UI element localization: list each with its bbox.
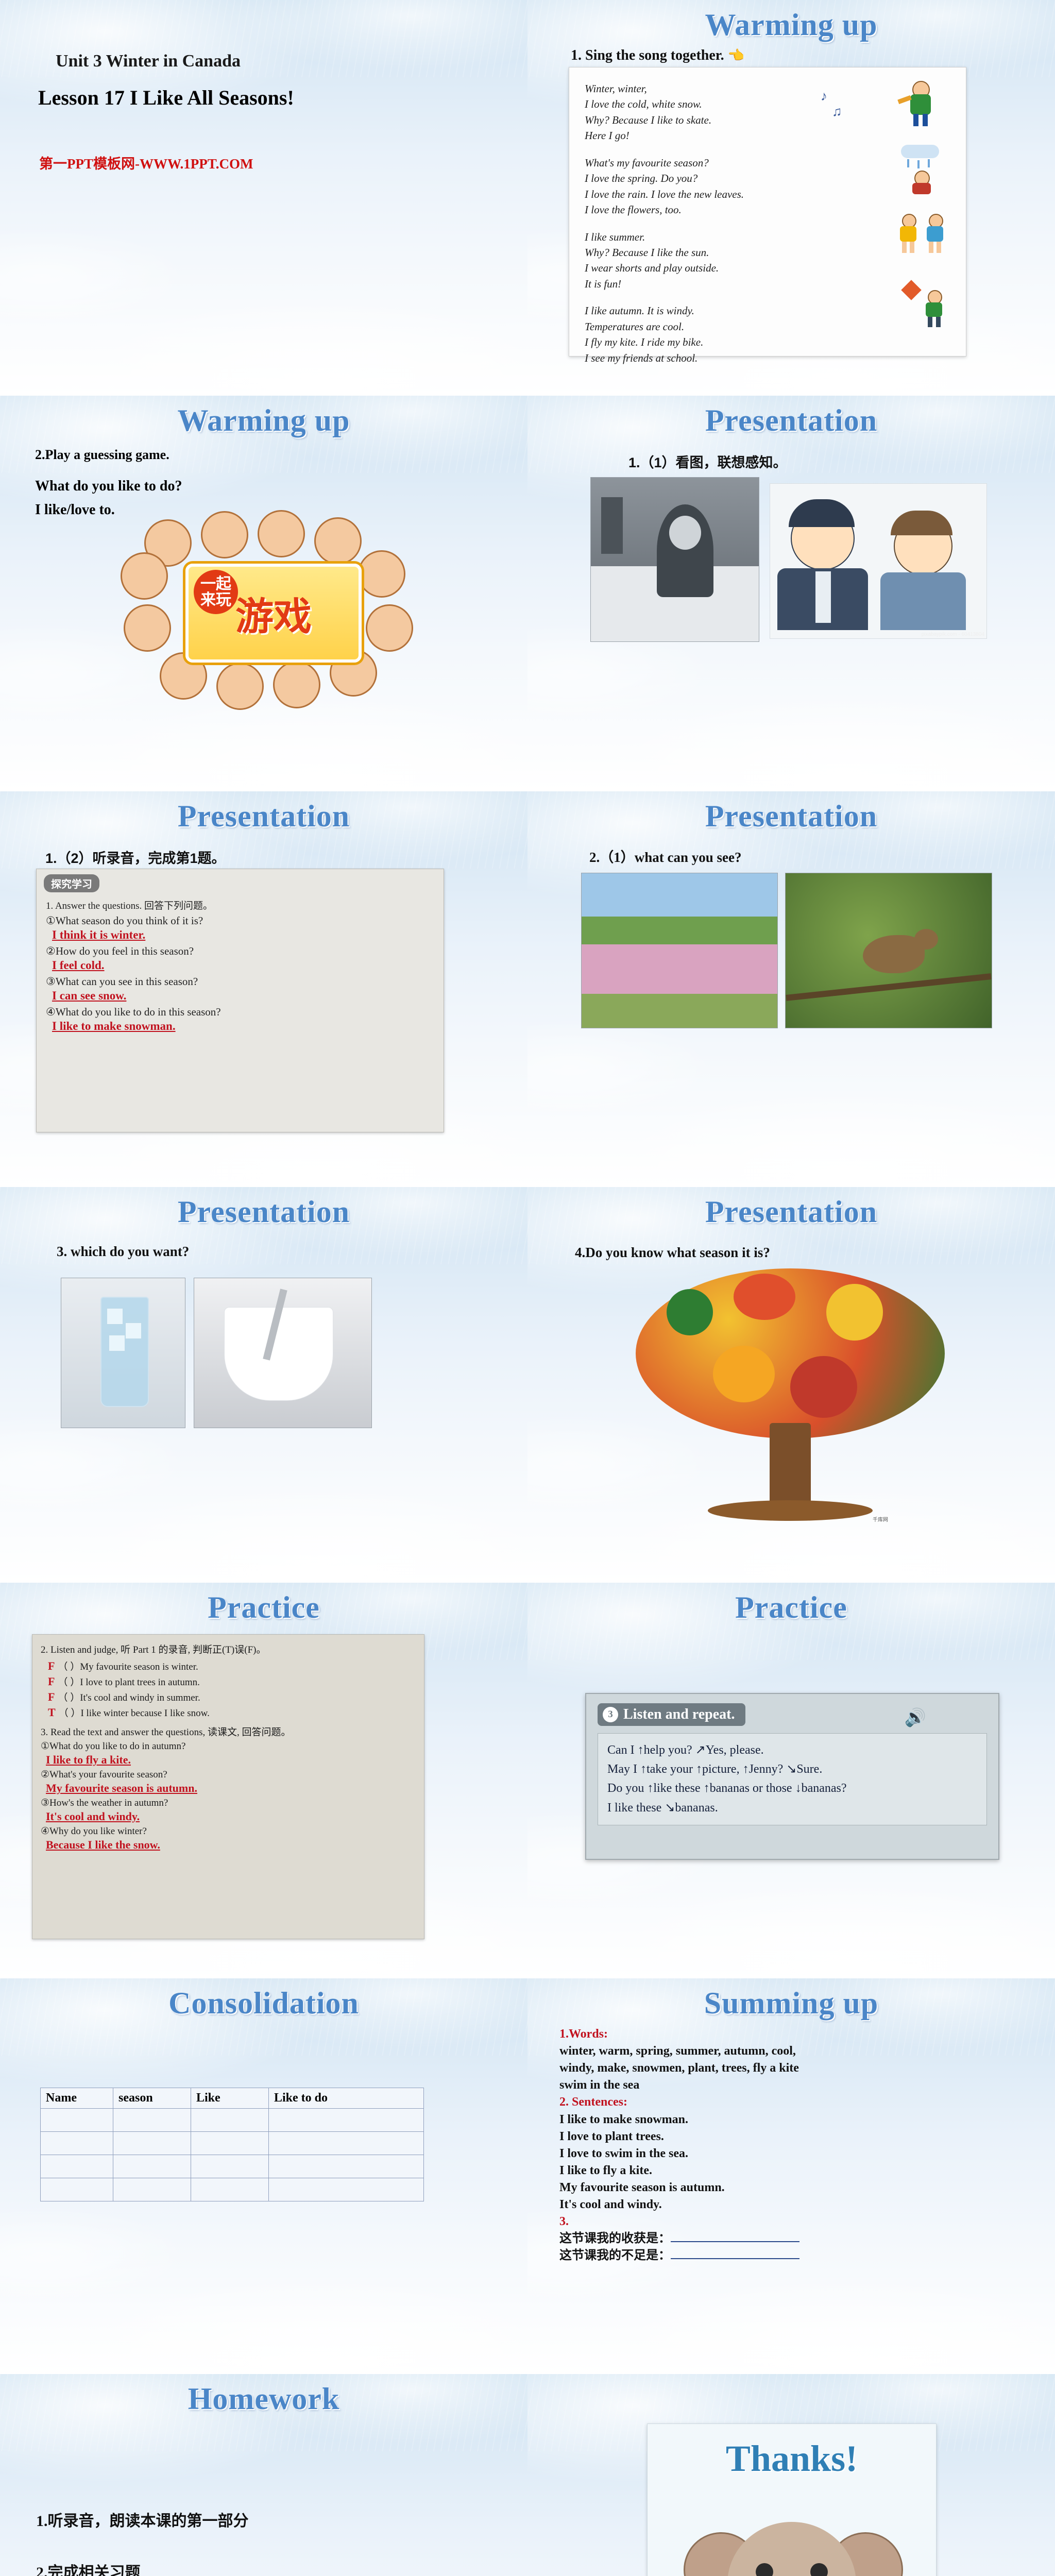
slide-presentation-2: Presentation 1.（2）听录音，完成第1题。 探究学习 1. Ans… bbox=[0, 791, 527, 1187]
slide-heading: Warming up bbox=[527, 0, 1055, 43]
sentence-item: My favourite season is autumn. bbox=[559, 2179, 1023, 2196]
unit-title: Unit 3 Winter in Canada bbox=[56, 52, 241, 71]
slide-heading: Presentation bbox=[527, 791, 1055, 834]
koala-photo bbox=[678, 2501, 905, 2576]
judge-item: T （ ）I like winter because I like snow. bbox=[48, 1705, 424, 1719]
judge-text: （ ）I love to plant trees in autumn. bbox=[58, 1674, 199, 1688]
words-heading: 1.Words: bbox=[559, 2026, 1023, 2043]
song-stanza: I like summer. Why? Because I like the s… bbox=[585, 229, 811, 292]
table-header-row: Name season Like Like to do bbox=[41, 2088, 424, 2109]
slide-presentation-5: Presentation 4.Do you know what season i… bbox=[527, 1187, 1055, 1583]
dialogue-line: Do you ↑like these ↑bananas or those ↓ba… bbox=[607, 1779, 977, 1798]
column-header-name: Name bbox=[41, 2088, 113, 2109]
reflection-line-2: 这节课我的不足是： bbox=[559, 2247, 1023, 2264]
thanks-text: Thanks! bbox=[648, 2437, 936, 2480]
hot-water-photo bbox=[194, 1278, 372, 1428]
cell[interactable] bbox=[41, 2109, 113, 2132]
cell[interactable] bbox=[41, 2155, 113, 2178]
worksheet-intro: 1. Answer the questions. 回答下列问题。 bbox=[46, 898, 444, 912]
task-text: 3. which do you want? bbox=[57, 1244, 189, 1260]
ice-water-photo bbox=[61, 1278, 185, 1428]
dialogue-line: I like these ↘bananas. bbox=[607, 1799, 977, 1818]
question-1: ①What season do you think of it is? bbox=[46, 914, 444, 927]
judge-item: F （ ）My favourite season is winter. bbox=[48, 1659, 424, 1673]
cell[interactable] bbox=[113, 2109, 191, 2132]
song-illustrations: ♪ ♫ bbox=[816, 67, 966, 356]
slide-heading: Presentation bbox=[527, 1187, 1055, 1230]
worksheet-card: 探究学习 1. Answer the questions. 回答下列问题。 ①W… bbox=[36, 869, 444, 1132]
practice-question-2: ②What's your favourite season? bbox=[41, 1769, 424, 1781]
task-label: 1. Sing the song together. 👈 bbox=[571, 47, 744, 64]
question-4: ④What do you like to do in this season? bbox=[46, 1006, 444, 1019]
autumn-kite-illustration bbox=[900, 279, 957, 328]
guessing-game-illustration: 游戏 一起来玩 bbox=[124, 514, 412, 705]
cell[interactable] bbox=[41, 2132, 113, 2155]
slide-homework: Homework 1.听录音，朗读本课的第一部分 2.完成相关习题 3.写一写你… bbox=[0, 2374, 527, 2576]
speaker-icon[interactable]: 🔊 bbox=[905, 1707, 926, 1728]
reflection-line-1: 这节课我的收获是： bbox=[559, 2230, 1023, 2247]
slide-heading: Summing up bbox=[527, 1978, 1055, 2021]
slide-warming-up-game: Warming up 2.Play a guessing game. What … bbox=[0, 396, 527, 791]
judge-mark: F bbox=[48, 1659, 55, 1673]
cell[interactable] bbox=[113, 2132, 191, 2155]
task-text: 1.（2）听录音，完成第1题。 bbox=[45, 847, 226, 867]
summary-body: 1.Words: winter, warm, spring, summer, a… bbox=[559, 2026, 1023, 2265]
music-note-icon: ♫ bbox=[832, 104, 842, 120]
slide-deck: Unit 3 Winter in Canada Lesson 17 I Like… bbox=[0, 0, 1055, 2576]
slide-heading: Presentation bbox=[527, 396, 1055, 438]
judge-mark: T bbox=[48, 1706, 56, 1719]
winter-person-photo bbox=[590, 477, 759, 642]
homework-item-2: 2.完成相关习题 bbox=[36, 2560, 141, 2576]
spring-rain-illustration bbox=[898, 145, 955, 194]
answer-2: I feel cold. bbox=[52, 959, 444, 972]
judge-item: F （ ）It's cool and windy in summer. bbox=[48, 1690, 424, 1704]
listen-repeat-card: 3 Listen and repeat. 🔊 Can I ↑help you? … bbox=[585, 1693, 999, 1860]
task-text: 2.Play a guessing game. bbox=[35, 447, 169, 463]
slide-thanks: Thanks! bbox=[527, 2374, 1055, 2576]
cell[interactable] bbox=[191, 2155, 269, 2178]
practice-answer-4: Because I like the snow. bbox=[46, 1838, 424, 1852]
cell[interactable] bbox=[113, 2155, 191, 2178]
slide-title: Unit 3 Winter in Canada Lesson 17 I Like… bbox=[0, 0, 527, 396]
worksheet-title: 探究学习 bbox=[44, 874, 99, 892]
summer-kids-illustration bbox=[896, 211, 952, 260]
slide-practice-2: Practice 3 Listen and repeat. 🔊 Can I ↑h… bbox=[527, 1583, 1055, 1978]
slide-consolidation: Consolidation Name season Like Like to d… bbox=[0, 1978, 527, 2374]
homework-item-1: 1.听录音，朗读本课的第一部分 bbox=[36, 2508, 249, 2531]
slide-presentation-4: Presentation 3. which do you want? bbox=[0, 1187, 527, 1583]
words-list: winter, warm, spring, summer, autumn, co… bbox=[559, 2043, 1023, 2094]
slide-heading: Presentation bbox=[0, 1187, 527, 1230]
reflection-label-2: 这节课我的不足是： bbox=[559, 2249, 671, 2262]
practice-worksheet: 2. Listen and judge, 听 Part 1 的录音, 判断正(T… bbox=[32, 1634, 424, 1939]
song-card: Winter, winter, I love the cold, white s… bbox=[569, 67, 966, 357]
judge-text: （ ）It's cool and windy in summer. bbox=[58, 1690, 200, 1704]
consolidation-table: Name season Like Like to do bbox=[40, 2088, 424, 2201]
spring-field-photo bbox=[581, 873, 778, 1028]
thanks-card: Thanks! bbox=[647, 2424, 937, 2576]
song-lyrics: Winter, winter, I love the cold, white s… bbox=[569, 67, 816, 356]
slide-heading: Warming up bbox=[0, 396, 527, 438]
prompt-question: What do you like to do? bbox=[35, 478, 182, 495]
sentence-item: I like to fly a kite. bbox=[559, 2162, 1023, 2179]
cartoon-cold-people: pixabaypik.com - 60413804 bbox=[770, 483, 987, 639]
sentence-item: I love to swim in the sea. bbox=[559, 2145, 1023, 2162]
dialogue-box: Can I ↑help you? ↗Yes, please. May I ↑ta… bbox=[598, 1733, 987, 1825]
sentence-item: I love to plant trees. bbox=[559, 2128, 1023, 2145]
column-header-season: season bbox=[113, 2088, 191, 2109]
practice-answer-3: It's cool and windy. bbox=[46, 1810, 424, 1823]
question-2: ②How do you feel in this season? bbox=[46, 945, 444, 958]
practice-question-1: ①What do you like to do in autumn? bbox=[41, 1740, 424, 1752]
pointing-hand-icon: 👈 bbox=[728, 48, 744, 63]
task-text: 2.（1）what can you see? bbox=[589, 846, 742, 866]
cell[interactable] bbox=[191, 2132, 269, 2155]
reflection-label-1: 这节课我的收获是： bbox=[559, 2232, 671, 2245]
judge-text: （ ）My favourite season is winter. bbox=[58, 1659, 198, 1673]
table-row[interactable] bbox=[41, 2178, 424, 2201]
listen-repeat-header: 3 Listen and repeat. bbox=[598, 1703, 745, 1726]
cell[interactable] bbox=[191, 2178, 269, 2201]
song-stanza: Winter, winter, I love the cold, white s… bbox=[585, 81, 811, 144]
judge-mark: F bbox=[48, 1675, 55, 1688]
judge-intro: 2. Listen and judge, 听 Part 1 的录音, 判断正(T… bbox=[41, 1642, 424, 1656]
reflection-blank-2[interactable] bbox=[671, 2258, 799, 2259]
slide-practice-1: Practice 2. Listen and judge, 听 Part 1 的… bbox=[0, 1583, 527, 1978]
table-row[interactable] bbox=[41, 2109, 424, 2132]
photo-credit: pixabaypik.com - 60413804 bbox=[922, 632, 984, 637]
slide-presentation-1: Presentation 1.（1）看图，联想感知。 pixabaypik.co… bbox=[527, 396, 1055, 791]
dialogue-line: Can I ↑help you? ↗Yes, please. bbox=[607, 1741, 977, 1760]
sentence-item: It's cool and windy. bbox=[559, 2196, 1023, 2213]
dialogue-line: May I ↑take your ↑picture, ↑Jenny? ↘Sure… bbox=[607, 1760, 977, 1779]
bird-photo bbox=[785, 873, 992, 1028]
music-note-icon: ♪ bbox=[821, 88, 827, 104]
answer-4: I like to make snowman. bbox=[52, 1020, 444, 1033]
sentences-heading: 2. Sentences: bbox=[559, 2094, 1023, 2111]
step-number: 3 bbox=[603, 1707, 618, 1722]
question-3: ③What can you see in this season? bbox=[46, 975, 444, 988]
winter-skater-illustration bbox=[895, 80, 951, 129]
practice-answer-2: My favourite season is autumn. bbox=[46, 1782, 424, 1795]
slide-heading: Presentation bbox=[0, 791, 527, 834]
task-text: 4.Do you know what season it is? bbox=[575, 1245, 770, 1261]
task-text: 1. Sing the song together. bbox=[571, 47, 724, 63]
read-intro: 3. Read the text and answer the question… bbox=[41, 1724, 424, 1738]
practice-answer-1: I like to fly a kite. bbox=[46, 1753, 424, 1767]
slide-summing-up: Summing up 1.Words: winter, warm, spring… bbox=[527, 1978, 1055, 2374]
image-credit: 千库网 bbox=[873, 1515, 888, 1523]
game-badge: 一起来玩 bbox=[194, 570, 238, 614]
watermark: 第一PPT模板网-WWW.1PPT.COM bbox=[39, 152, 253, 173]
sentence-item: I like to make snowman. bbox=[559, 2111, 1023, 2128]
cell[interactable] bbox=[269, 2109, 424, 2132]
table-row[interactable] bbox=[41, 2155, 424, 2178]
cell[interactable] bbox=[41, 2178, 113, 2201]
answer-1: I think it is winter. bbox=[52, 928, 444, 942]
cell[interactable] bbox=[269, 2155, 424, 2178]
slide-heading: Practice bbox=[527, 1583, 1055, 1625]
table-row[interactable] bbox=[41, 2132, 424, 2155]
judge-mark: F bbox=[48, 1690, 55, 1704]
reflection-heading: 3. bbox=[559, 2213, 1023, 2230]
song-stanza: What's my favourite season? I love the s… bbox=[585, 155, 811, 218]
slide-heading: Consolidation bbox=[0, 1978, 527, 2021]
slide-warming-up-song: Warming up 1. Sing the song together. 👈 … bbox=[527, 0, 1055, 396]
slide-heading: Homework bbox=[0, 2374, 527, 2417]
reflection-blank-1[interactable] bbox=[671, 2241, 799, 2242]
judge-item: F （ ）I love to plant trees in autumn. bbox=[48, 1674, 424, 1688]
slide-heading: Practice bbox=[0, 1583, 527, 1625]
cell[interactable] bbox=[113, 2178, 191, 2201]
column-header-like-to-do: Like to do bbox=[269, 2088, 424, 2109]
slide-presentation-3: Presentation 2.（1）what can you see? bbox=[527, 791, 1055, 1187]
harvest-tree-illustration: 千库网 bbox=[605, 1268, 976, 1536]
task-text: 1.（1）看图，联想感知。 bbox=[628, 451, 787, 471]
lesson-title: Lesson 17 I Like All Seasons! bbox=[38, 86, 294, 110]
practice-question-3: ③How's the weather in autumn? bbox=[41, 1797, 424, 1809]
cell[interactable] bbox=[191, 2109, 269, 2132]
cell[interactable] bbox=[269, 2132, 424, 2155]
column-header-like: Like bbox=[191, 2088, 269, 2109]
answer-3: I can see snow. bbox=[52, 989, 444, 1003]
practice-question-4: ④Why do you like winter? bbox=[41, 1825, 424, 1837]
song-stanza: I like autumn. It is windy. Temperatures… bbox=[585, 303, 811, 366]
cell[interactable] bbox=[269, 2178, 424, 2201]
prompt-answer: I like/love to. bbox=[35, 502, 115, 518]
listen-repeat-title: Listen and repeat. bbox=[623, 1706, 735, 1723]
game-title-text: 游戏 bbox=[235, 586, 312, 641]
judge-text: （ ）I like winter because I like snow. bbox=[59, 1705, 210, 1719]
